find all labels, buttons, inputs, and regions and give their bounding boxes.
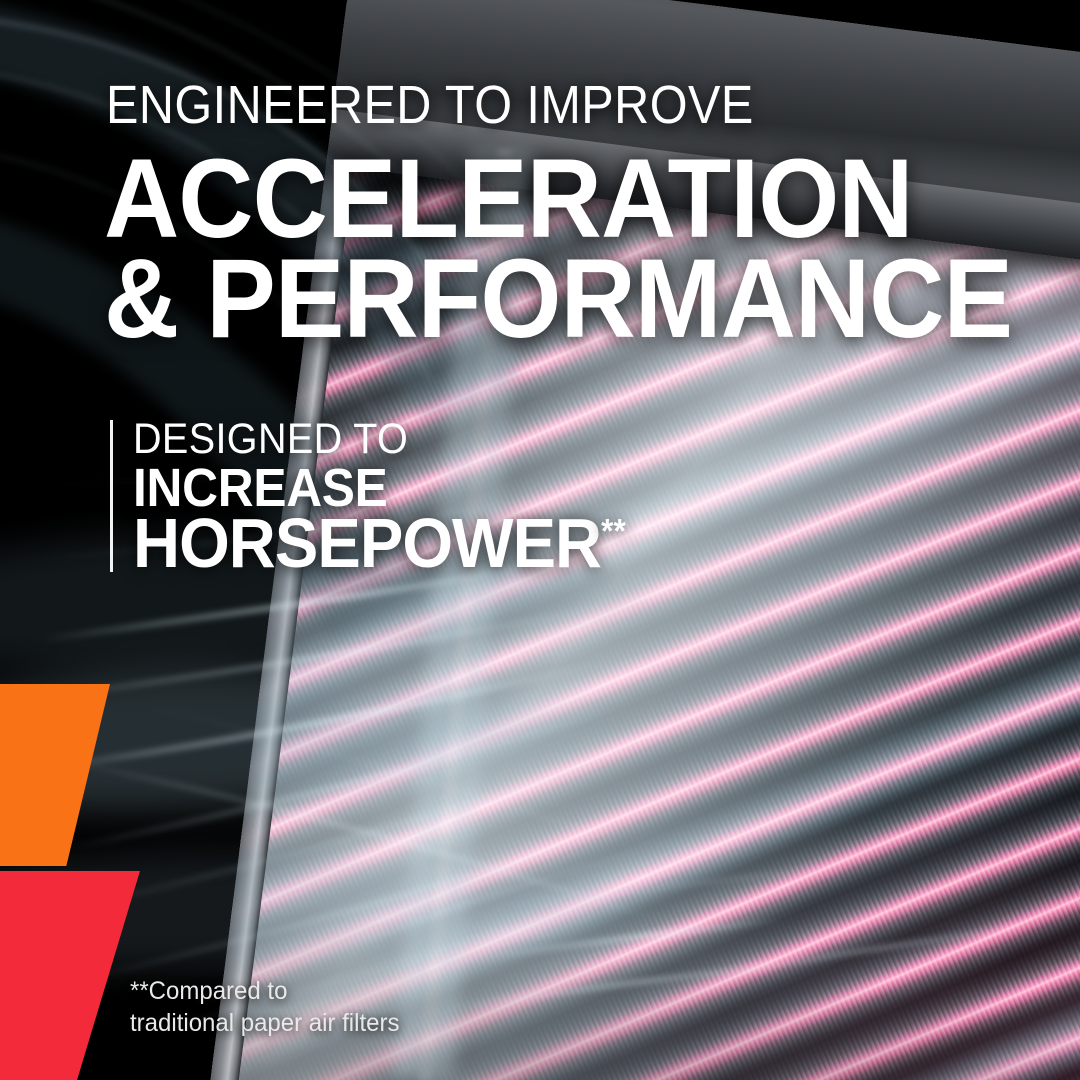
- marketing-copy: ENGINEERED TO IMPROVE ACCELERATION & PER…: [0, 0, 1080, 1080]
- subhead-line-3: HORSEPOWER**: [133, 508, 626, 578]
- subhead-line-3-word: HORSEPOWER: [133, 504, 601, 582]
- footnote-marker: **: [601, 513, 626, 551]
- subhead-line-1: DESIGNED TO: [133, 418, 408, 461]
- headline-line-2: & PERFORMANCE: [104, 246, 1012, 351]
- footnote-text: **Compared to traditional paper air filt…: [130, 975, 399, 1039]
- subhead-vertical-rule: [110, 420, 113, 572]
- eyebrow-text: ENGINEERED TO IMPROVE: [106, 78, 754, 132]
- marketing-banner: ENGINEERED TO IMPROVE ACCELERATION & PER…: [0, 0, 1080, 1080]
